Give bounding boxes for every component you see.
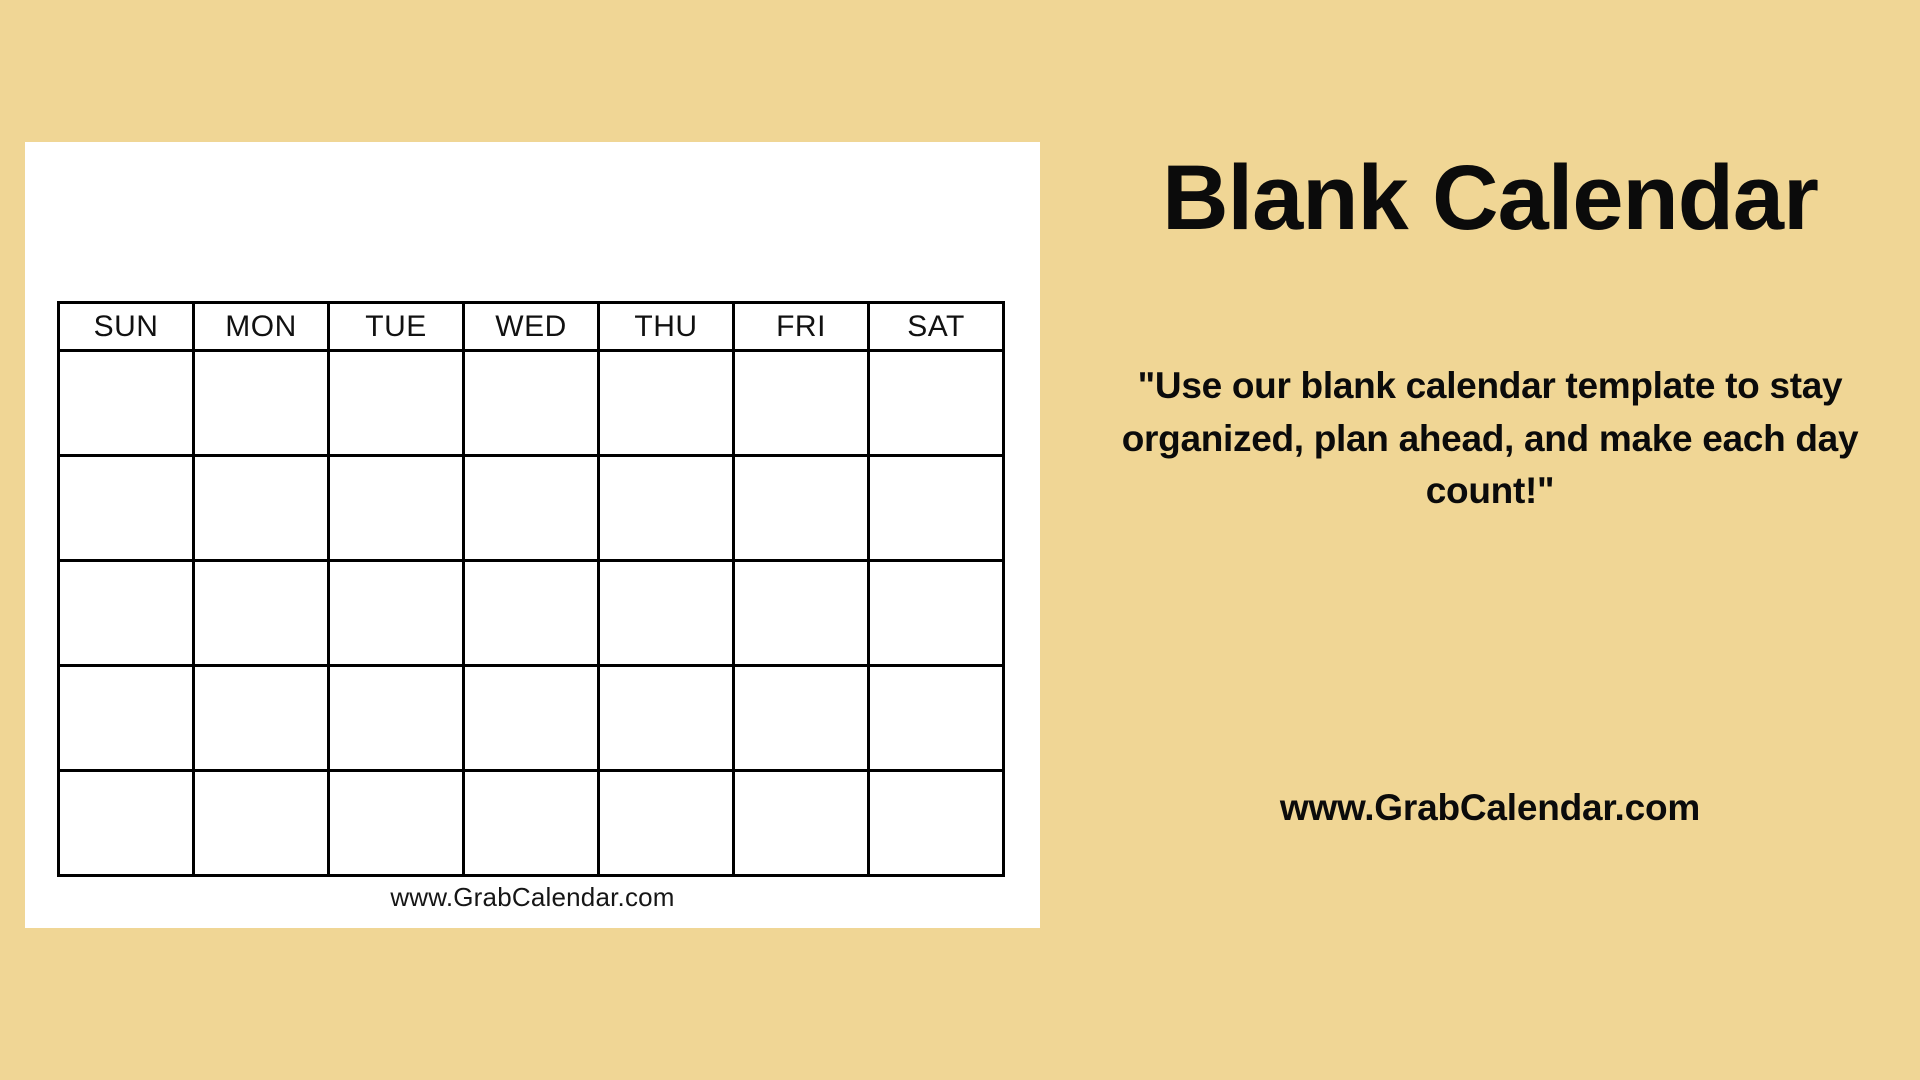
page-title: Blank Calendar [1080,152,1900,244]
weekday-header-fri: FRI [734,303,869,351]
weekday-header-wed: WED [464,303,599,351]
calendar-day-cell[interactable] [599,351,734,456]
calendar-card: SUN MON TUE WED THU FRI SAT [25,142,1040,928]
calendar-grid: SUN MON TUE WED THU FRI SAT [57,301,1005,877]
calendar-day-cell[interactable] [59,561,194,666]
calendar-day-cell[interactable] [599,561,734,666]
calendar-day-cell[interactable] [194,351,329,456]
calendar-day-cell[interactable] [194,771,329,876]
calendar-day-cell[interactable] [869,771,1004,876]
calendar-day-cell[interactable] [869,351,1004,456]
calendar-day-cell[interactable] [329,771,464,876]
calendar-day-cell[interactable] [329,666,464,771]
calendar-week-row [59,666,1004,771]
calendar-day-cell[interactable] [734,771,869,876]
calendar-day-cell[interactable] [734,561,869,666]
calendar-day-cell[interactable] [194,456,329,561]
calendar-day-cell[interactable] [329,561,464,666]
calendar-grid-container: SUN MON TUE WED THU FRI SAT [57,301,1005,861]
calendar-day-cell[interactable] [599,666,734,771]
calendar-header-row-group: SUN MON TUE WED THU FRI SAT [59,303,1004,351]
calendar-day-cell[interactable] [599,771,734,876]
calendar-week-row [59,456,1004,561]
calendar-day-cell[interactable] [59,666,194,771]
calendar-week-row [59,771,1004,876]
site-url: www.GrabCalendar.com [1090,787,1890,829]
calendar-day-cell[interactable] [869,561,1004,666]
calendar-header-row: SUN MON TUE WED THU FRI SAT [59,303,1004,351]
weekday-header-thu: THU [599,303,734,351]
poster-canvas: SUN MON TUE WED THU FRI SAT [0,0,1920,1080]
calendar-day-cell[interactable] [194,666,329,771]
calendar-week-row [59,351,1004,456]
promo-quote: "Use our blank calendar template to stay… [1090,360,1890,518]
calendar-day-cell[interactable] [59,351,194,456]
calendar-day-cell[interactable] [59,771,194,876]
calendar-day-cell[interactable] [464,351,599,456]
calendar-day-cell[interactable] [734,456,869,561]
weekday-header-mon: MON [194,303,329,351]
calendar-day-cell[interactable] [329,351,464,456]
promo-panel: Blank Calendar "Use our blank calendar t… [1080,142,1900,928]
calendar-day-cell[interactable] [734,666,869,771]
weekday-header-sat: SAT [869,303,1004,351]
calendar-day-cell[interactable] [329,456,464,561]
calendar-week-row [59,561,1004,666]
calendar-day-cell[interactable] [869,666,1004,771]
calendar-day-cell[interactable] [869,456,1004,561]
weekday-header-tue: TUE [329,303,464,351]
calendar-day-cell[interactable] [464,666,599,771]
calendar-day-cell[interactable] [734,351,869,456]
calendar-day-cell[interactable] [194,561,329,666]
calendar-day-cell[interactable] [59,456,194,561]
weekday-header-sun: SUN [59,303,194,351]
calendar-day-cell[interactable] [464,771,599,876]
calendar-footer-url: www.GrabCalendar.com [25,882,1040,913]
calendar-body [59,351,1004,876]
calendar-day-cell[interactable] [464,561,599,666]
calendar-day-cell[interactable] [464,456,599,561]
calendar-day-cell[interactable] [599,456,734,561]
